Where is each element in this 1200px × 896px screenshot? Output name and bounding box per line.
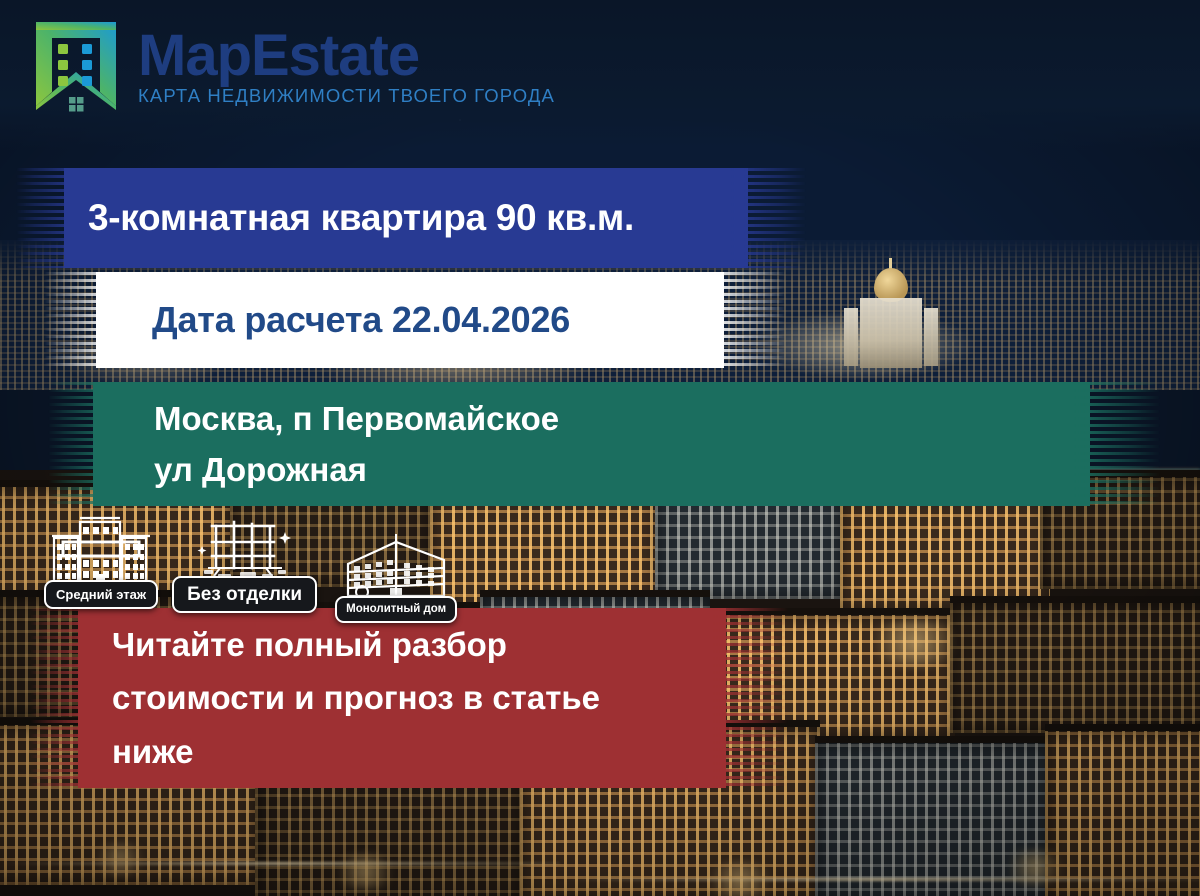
poster-header: MapEstate КАРТА НЕДВИЖИМОСТИ ТВОЕГО ГОРО… — [0, 0, 1200, 150]
address-line-1: Москва, п Первомайское — [154, 393, 1160, 444]
rooms-banner: 3-комнатная квартира 90 кв.м. — [16, 168, 806, 268]
cta-line-2: стоимости и прогноз в статье — [112, 671, 788, 724]
feature-label: Без отделки — [172, 576, 317, 613]
cta-banner: Читайте полный разбор стоимости и прогно… — [30, 608, 788, 788]
monolithic-building-icon — [338, 534, 454, 602]
address-text: Москва, п Первомайское ул Дорожная — [48, 393, 1160, 495]
cathedral-landmark-icon — [840, 268, 960, 373]
feature-mid-floor[interactable]: Средний этаж — [44, 514, 158, 609]
bare-shell-frame-icon — [190, 512, 300, 582]
mid-floor-building-icon — [49, 514, 153, 586]
cta-line-1: Читайте полный разбор — [112, 618, 788, 671]
brand-name: MapEstate — [138, 27, 555, 85]
property-promo-poster: MapEstate КАРТА НЕДВИЖИМОСТИ ТВОЕГО ГОРО… — [0, 0, 1200, 896]
feature-badges: Средний этаж — [44, 508, 457, 609]
brand-tagline: КАРТА НЕДВИЖИМОСТИ ТВОЕГО ГОРОДА — [138, 87, 555, 106]
bookmark-building-icon — [30, 18, 122, 114]
rooms-text: 3-комнатная квартира 90 кв.м. — [16, 197, 806, 239]
brand-logo[interactable]: MapEstate КАРТА НЕДВИЖИМОСТИ ТВОЕГО ГОРО… — [30, 18, 555, 114]
calculation-date-text: Дата расчета 22.04.2026 — [44, 299, 786, 341]
feature-label: Средний этаж — [44, 580, 158, 609]
feature-label: Монолитный дом — [335, 596, 457, 624]
cta-text: Читайте полный разбор стоимости и прогно… — [30, 618, 788, 778]
feature-bare-shell[interactable]: Без отделки — [172, 512, 317, 613]
feature-building-type[interactable]: Монолитный дом — [335, 534, 457, 624]
cta-line-3: ниже — [112, 725, 788, 778]
address-banner: Москва, п Первомайское ул Дорожная — [48, 382, 1160, 506]
date-banner: Дата расчета 22.04.2026 — [44, 272, 786, 368]
address-line-2: ул Дорожная — [154, 444, 1160, 495]
